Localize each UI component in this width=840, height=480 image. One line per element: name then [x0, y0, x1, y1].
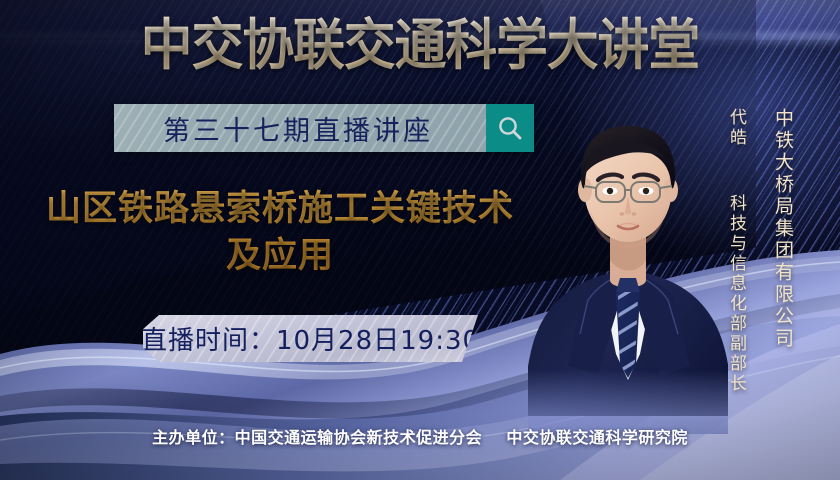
search-icon	[496, 114, 524, 142]
episode-banner-body: 第三十七期直播讲座	[114, 104, 486, 152]
live-stream-poster: 中交协联交通科学大讲堂 第三十七期直播讲座 山区铁路悬索桥施工关键技术 及应用 …	[0, 0, 840, 480]
broadcast-time-label: 直播时间：10月28日19:30	[143, 320, 478, 357]
page-title: 中交协联交通科学大讲堂	[25, 14, 815, 76]
lecture-topic-line-1: 山区铁路悬索桥施工关键技术	[46, 189, 514, 229]
speaker-company: 中铁大桥局集团有限公司	[770, 108, 797, 350]
lecture-topic: 山区铁路悬索桥施工关键技术 及应用	[20, 186, 540, 280]
broadcast-time-badge: 直播时间：10月28日19:30	[143, 315, 478, 362]
search-icon-button[interactable]	[486, 104, 534, 152]
lecture-topic-line-2: 及应用	[20, 233, 540, 280]
speaker-name-title: 代皓 科技与信息化部副部长	[724, 108, 749, 394]
episode-label: 第三十七期直播讲座	[163, 109, 437, 148]
organizers-footer: 主办单位：中国交通运输协会新技术促进分会 中交协联交通科学研究院	[0, 424, 840, 448]
episode-banner: 第三十七期直播讲座	[114, 104, 534, 152]
